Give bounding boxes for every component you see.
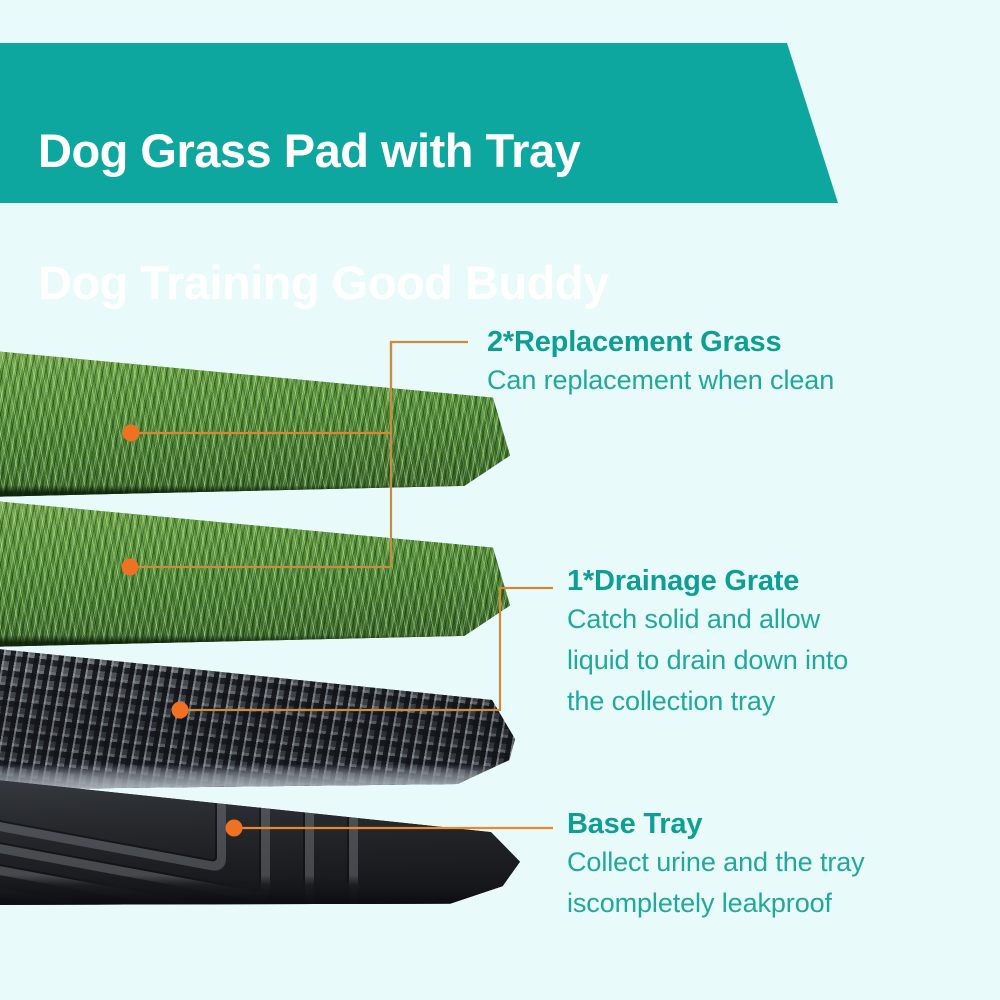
callout-body-line: Catch solid and allow: [567, 599, 848, 640]
product-infographic: Dog Grass Pad with Tray Dog Training Goo…: [0, 0, 1000, 1000]
callout-body-drainage-grate: Catch solid and allow liquid to drain do…: [567, 599, 848, 722]
marker-dot-grass-top: [123, 425, 140, 442]
grass-layer-top: [0, 346, 510, 498]
drainage-grate-layer: [0, 640, 515, 790]
marker-dot-drainage-grate: [172, 702, 189, 719]
callout-base-tray: Base Tray Collect urine and the tray isc…: [567, 806, 865, 924]
page-title-line-1: Dog Grass Pad with Tray: [38, 118, 798, 184]
base-tray-layer: [0, 770, 520, 905]
callout-drainage-grate: 1*Drainage Grate Catch solid and allow l…: [567, 563, 848, 722]
grass-layer-bottom: [0, 496, 510, 648]
callout-title-drainage-grate: 1*Drainage Grate: [567, 563, 848, 599]
callout-title-base-tray: Base Tray: [567, 806, 865, 842]
product-layer-stack: [0, 300, 520, 920]
callout-body-line: liquid to drain down into: [567, 640, 848, 681]
tray-rim: [0, 875, 520, 905]
callout-body-line: the collection tray: [567, 681, 848, 722]
callout-body-base-tray: Collect urine and the tray iscompletely …: [567, 842, 865, 924]
callout-body-line: Can replacement when clean: [487, 360, 834, 401]
callout-body-line: iscompletely leakproof: [567, 883, 865, 924]
marker-dot-base-tray: [226, 820, 243, 837]
callout-body-line: Collect urine and the tray: [567, 842, 865, 883]
marker-dot-grass-bottom: [122, 559, 139, 576]
callout-replacement-grass: 2*Replacement Grass Can replacement when…: [487, 324, 834, 401]
callout-title-replacement-grass: 2*Replacement Grass: [487, 324, 834, 360]
callout-body-replacement-grass: Can replacement when clean: [487, 360, 834, 401]
